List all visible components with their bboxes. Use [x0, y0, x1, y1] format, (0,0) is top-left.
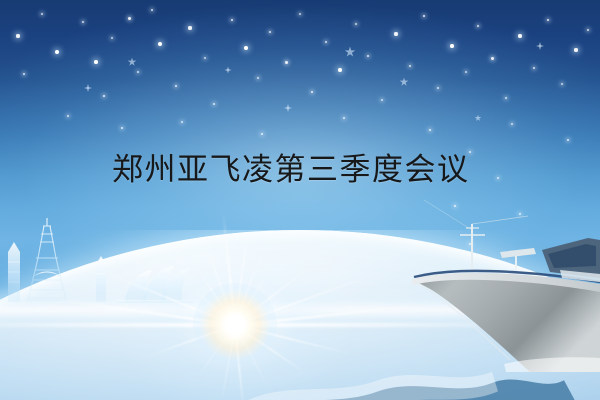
- slide-canvas: 郑州亚飞凌第三季度会议: [0, 0, 600, 400]
- page-title: 郑州亚飞凌第三季度会议: [112, 152, 470, 188]
- sky-background: [0, 0, 600, 400]
